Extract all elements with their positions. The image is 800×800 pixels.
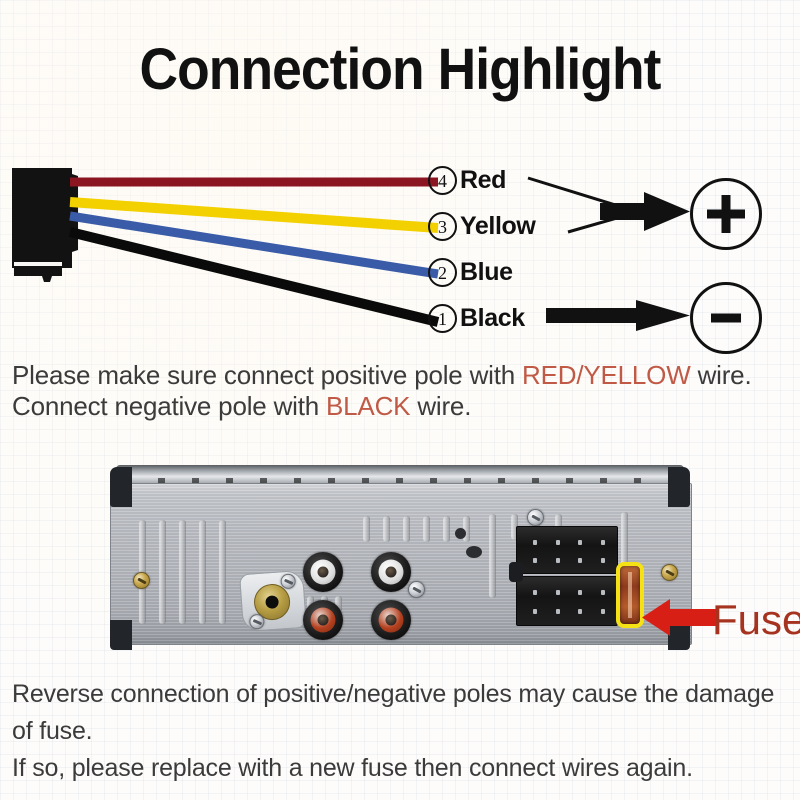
- chassis-corner-top-left: [110, 467, 132, 507]
- grommet-hole: [466, 546, 482, 558]
- wire-row-blue: 2 Blue: [428, 258, 513, 287]
- warning-line-3: If so, please replace with a new fuse th…: [12, 750, 774, 787]
- wire-number-3: 3: [428, 212, 457, 241]
- vent-slot: [443, 516, 450, 542]
- vent-slot: [383, 516, 390, 542]
- wiring-diagram: 4 Red 3 Yellow 2 Blue 1 Black: [0, 150, 800, 360]
- arrow-to-negative-icon: [546, 300, 690, 331]
- wire-label-yellow: Yellow: [460, 212, 535, 241]
- chassis-corner-top-right: [668, 467, 690, 507]
- rca-jack-red[interactable]: [371, 600, 411, 640]
- wire-number-4: 4: [428, 166, 457, 195]
- antenna-jack[interactable]: [239, 570, 307, 632]
- wire-row-red: 4 Red: [428, 166, 506, 195]
- wire-label-blue: Blue: [460, 258, 513, 287]
- harness-plug-icon: [12, 168, 78, 282]
- vent-slot: [363, 516, 370, 542]
- vent-slot: [219, 520, 226, 624]
- vent-slot: [179, 520, 186, 624]
- fuse-arrow-icon: [640, 596, 720, 640]
- chassis-screw: [408, 581, 425, 598]
- warning-line-1: Reverse connection of positive/negative …: [12, 676, 774, 713]
- wire-row-yellow: 3 Yellow: [428, 212, 535, 241]
- wire-number-1: 1: [428, 304, 457, 333]
- instructions-line2-highlight: BLACK: [326, 391, 410, 421]
- connector-latch: [509, 562, 523, 582]
- car-stereo-rear-photo: [110, 465, 690, 650]
- instructions-line1-part2: wire.: [691, 360, 752, 390]
- page-title: Connection Highlight: [32, 36, 768, 103]
- instructions-line-2: Connect negative pole with BLACK wire.: [12, 391, 751, 422]
- vent-slot: [423, 516, 430, 542]
- chassis-screw: [661, 564, 678, 581]
- iso-connector-lower[interactable]: [516, 576, 618, 626]
- warning-line-2: of fuse.: [12, 713, 774, 750]
- vent-slot: [489, 514, 496, 598]
- antenna-jack-screw: [249, 614, 265, 630]
- wire-label-black: Black: [460, 304, 525, 333]
- instructions-line1-part1: Please make sure connect positive pole w…: [12, 360, 522, 390]
- chassis-screw: [527, 509, 544, 526]
- antenna-jack-screw: [280, 573, 296, 589]
- vent-slot: [403, 516, 410, 542]
- wire-label-red: Red: [460, 166, 506, 195]
- vent-slot: [159, 520, 166, 624]
- chassis-corner-bottom-left: [110, 620, 132, 650]
- grommet-hole: [455, 528, 466, 539]
- fuse-label: Fuse: [712, 596, 800, 644]
- instructions-text: Please make sure connect positive pole w…: [12, 360, 751, 422]
- chassis-rear-face: [110, 483, 692, 645]
- arrow-to-positive-icon: [600, 192, 690, 231]
- positive-pole-icon: [690, 178, 762, 250]
- instructions-line2-part2: wire.: [410, 391, 471, 421]
- instructions-line2-part1: Connect negative pole with: [12, 391, 326, 421]
- rca-jack-white[interactable]: [303, 552, 343, 592]
- warning-text: Reverse connection of positive/negative …: [12, 676, 774, 787]
- wire-row-black: 1 Black: [428, 304, 525, 333]
- wire-harness-illustration: [0, 150, 800, 360]
- wire-number-2: 2: [428, 258, 457, 287]
- connection-highlight-infographic: Connection Highlight: [0, 0, 800, 800]
- chassis-screw: [133, 572, 150, 589]
- vent-slot: [199, 520, 206, 624]
- rca-jack-red[interactable]: [303, 600, 343, 640]
- negative-pole-icon: [690, 282, 762, 354]
- instructions-line1-highlight: RED/YELLOW: [522, 360, 691, 390]
- iso-connector-upper[interactable]: [516, 526, 618, 574]
- instructions-line-1: Please make sure connect positive pole w…: [12, 360, 751, 391]
- rca-jack-white[interactable]: [371, 552, 411, 592]
